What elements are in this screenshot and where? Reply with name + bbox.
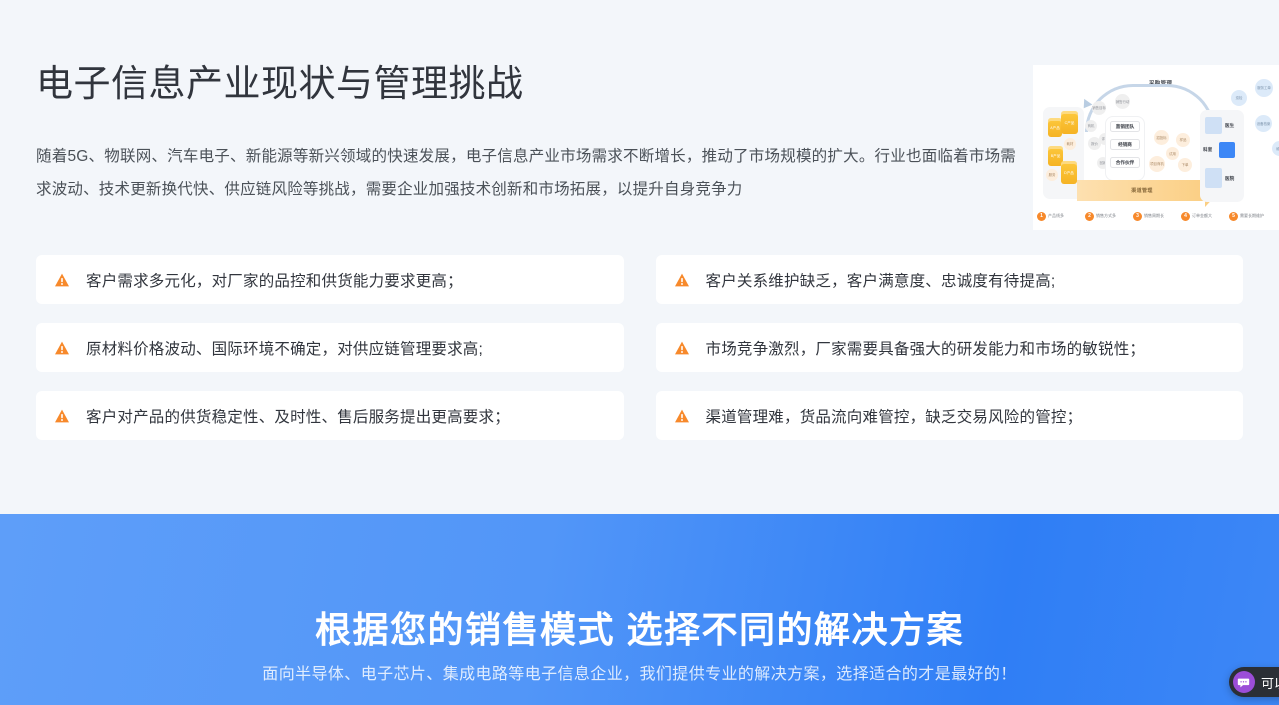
warning-triangle-icon [54,408,70,424]
page-root: 电子信息产业现状与管理挑战 随着5G、物联网、汽车电子、新能源等新兴领域的快速发… [0,0,1279,705]
diagram-bubble: 耗材 [1064,138,1076,150]
legend-item: 3 销售周期长 [1133,212,1181,221]
diagram-bubble-label: 试用 [1169,152,1176,156]
diagram-bubble: 销售目标 [1092,101,1106,115]
diagram-bubble-label: 服务 [1049,173,1056,177]
legend-item: 2 销售方式多 [1085,212,1133,221]
challenge-text: 客户关系维护缺乏，客户满意度、忠诚度有待提高; [706,269,1056,291]
challenge-card[interactable]: 市场竞争激烈，厂家需要具备强大的研发能力和市场的敏锐性； [656,323,1244,372]
challenge-card[interactable]: 客户对产品的供货稳定性、及时性、售后服务提出更高要求； [36,391,624,440]
challenge-card[interactable]: 原材料价格波动、国际环境不确定，对供应链管理要求高; [36,323,624,372]
channel-chip: 合作伙伴 [1110,157,1140,168]
legend-number: 1 [1037,212,1046,221]
diagram-bubble: 服务 [1046,169,1058,181]
diagram-bubble-label: 设备档案 [1257,122,1271,126]
intro-paragraph: 随着5G、物联网、汽车电子、新能源等新兴领域的快速发展，电子信息产业市场需求不断… [36,140,1016,206]
product-cylinder-label: B产品 [1048,154,1063,159]
diagram-bubble-label: 销售行动 [1116,100,1130,104]
banner-subtitle: 面向半导体、电子芯片、集成电路等电子信息企业，我们提供专业的解决方案，选择适合的… [0,663,1279,687]
product-cylinder-label: D产品 [1061,170,1077,175]
hospital-icon [1205,168,1222,188]
product-cylinder-label: C产品 [1061,120,1078,125]
diagram-legend: 1 产品线多 2 销售方式多 3 销售周期长 4 订单金额大 5 需要长期维 [1037,206,1277,226]
product-cylinder: C产品 [1061,111,1078,134]
diagram-bubble: 试用 [1166,147,1179,160]
channel-chip: 直销团队 [1110,121,1140,132]
diagram-bubble: 招投标 [1154,130,1169,145]
challenge-card[interactable]: 客户需求多元化，对厂家的品控和供货能力要求更高； [36,255,624,304]
legend-label: 订单金额大 [1192,213,1212,219]
industry-overview-section: 电子信息产业现状与管理挑战 随着5G、物联网、汽车电子、新能源等新兴领域的快速发… [0,0,1279,514]
chat-widget-label: 可以 [1261,673,1279,692]
diagram-bubble-label: 巡检 [1236,96,1243,100]
sales-channel-flow-diagram: 采购管理 A产品 C产品 B产品 D产品 耗材 服务 [1033,65,1279,230]
challenge-card[interactable]: 渠道管理难，货品流向难管控，缺乏交易风险的管控； [656,391,1244,440]
warning-triangle-icon [54,272,70,288]
legend-label: 产品线多 [1048,213,1064,219]
diagram-bubble-label: 服务工单 [1257,86,1271,90]
customer-role-label: 医生 [1225,123,1234,129]
legend-number: 2 [1085,212,1094,221]
diagram-bubble-label: 招投标 [1156,136,1166,140]
challenge-text: 市场竞争激烈，厂家需要具备强大的研发能力和市场的敏锐性； [706,337,1146,359]
diagram-bubble-label: 耗材 [1067,142,1074,146]
legend-number: 3 [1133,212,1142,221]
challenge-text: 客户对产品的供货稳定性、及时性、售后服务提出更高要求； [86,405,510,427]
customer-role-label: 科室 [1203,147,1212,153]
warning-triangle-icon [674,340,690,356]
diagram-bubble: 设备档案 [1255,115,1272,132]
chat-widget[interactable]: 可以 [1229,667,1279,697]
banner-content: 根据您的销售模式 选择不同的解决方案 面向半导体、电子芯片、集成电路等电子信息企… [0,608,1279,687]
diagram-bubble-label: 报价 [1091,142,1098,146]
banner-title: 根据您的销售模式 选择不同的解决方案 [0,608,1279,652]
challenge-text: 原材料价格波动、国际环境不确定，对供应链管理要求高; [86,337,483,359]
legend-label: 销售方式多 [1096,213,1116,219]
diagram-bubble: 服务工单 [1255,79,1273,97]
channel-flow-label: 渠道管理 [1131,187,1153,194]
challenges-grid: 客户需求多元化，对厂家的品控和供货能力要求更高； 原材料价格波动、国际环境不确定… [36,255,1243,440]
diagram-bubble: 样品 [1176,133,1190,147]
product-cylinder: D产品 [1061,161,1077,184]
challenges-left-column: 客户需求多元化，对厂家的品控和供货能力要求更高； 原材料价格波动、国际环境不确定… [36,255,624,440]
diagram-bubble: 项目商机 [1149,156,1165,172]
diagram-bubble-label: 商机 [1088,124,1095,128]
customer-role-label: 医院 [1225,176,1234,182]
legend-label: 需要长期维护 [1240,213,1264,219]
channel-chip: 经销商 [1110,139,1140,150]
diagram-bubble-label: 销售目标 [1092,106,1106,110]
warning-triangle-icon [674,408,690,424]
legend-label: 销售周期长 [1144,213,1164,219]
challenge-card[interactable]: 客户关系维护缺乏，客户满意度、忠诚度有待提高; [656,255,1244,304]
warning-triangle-icon [674,272,690,288]
legend-item: 4 订单金额大 [1181,212,1229,221]
product-cylinder: A产品 [1048,118,1062,137]
warning-triangle-icon [54,340,70,356]
diagram-bubble: 销售行动 [1115,94,1130,109]
challenge-text: 客户需求多元化，对厂家的品控和供货能力要求更高； [86,269,463,291]
diagram-bubble-label: 样品 [1180,138,1187,142]
diagram-bubble-label: 下单 [1182,163,1189,167]
challenges-right-column: 客户关系维护缺乏，客户满意度、忠诚度有待提高; 市场竞争激烈，厂家需要具备强大的… [656,255,1244,440]
legend-item: 1 产品线多 [1037,212,1085,221]
diagram-bubble: 商机 [1085,120,1097,132]
product-cylinder-label: A产品 [1048,125,1062,130]
doctor-icon [1205,117,1222,134]
diagram-bubble: 下单 [1178,158,1192,172]
page-title: 电子信息产业现状与管理挑战 [36,60,524,107]
challenge-text: 渠道管理难，货品流向难管控，缺乏交易风险的管控； [706,405,1083,427]
department-icon [1219,142,1235,158]
diagram-bubble: 维保 [1272,141,1279,156]
solutions-banner: 根据您的销售模式 选择不同的解决方案 面向半导体、电子芯片、集成电路等电子信息企… [0,514,1279,705]
diagram-bubble-label: 项目商机 [1150,162,1164,166]
channel-flow-arrow: 渠道管理 [1077,180,1207,201]
legend-number: 4 [1181,212,1190,221]
legend-number: 5 [1229,212,1238,221]
diagram-bubble: 巡检 [1231,90,1247,106]
chat-bubble-icon [1233,671,1255,693]
legend-item: 5 需要长期维护 [1229,212,1277,221]
